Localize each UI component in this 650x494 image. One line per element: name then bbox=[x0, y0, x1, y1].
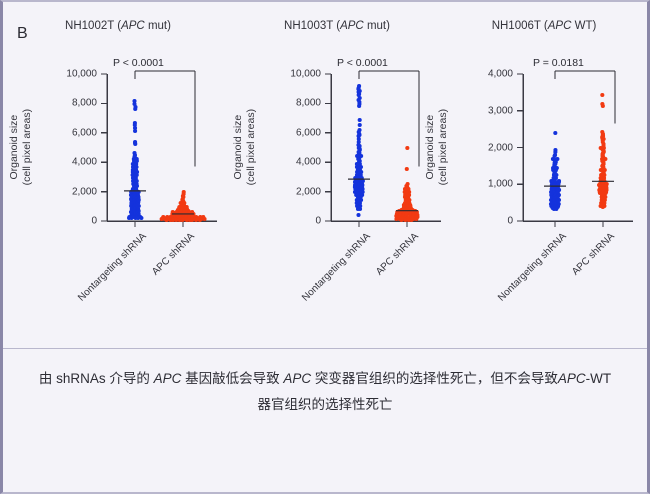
chart-panels-container: NH1002T (APC mut)Organoid size(cell pixe… bbox=[3, 2, 650, 342]
caption-text-mid: 基因敲低会导致 bbox=[181, 371, 283, 386]
data-point bbox=[405, 167, 409, 171]
data-point bbox=[553, 131, 557, 135]
data-point bbox=[399, 218, 403, 222]
caption-gene-2: APC bbox=[283, 371, 311, 386]
data-point bbox=[405, 146, 409, 150]
data-point bbox=[357, 104, 361, 108]
caption-text-pre: 由 shRNAs 介导的 bbox=[39, 371, 154, 386]
data-point bbox=[358, 118, 362, 122]
data-point bbox=[139, 216, 143, 220]
data-point bbox=[554, 207, 558, 211]
panel-nh1003t-plot bbox=[231, 2, 443, 342]
data-point bbox=[180, 218, 184, 222]
data-point bbox=[600, 93, 604, 97]
data-point bbox=[356, 213, 360, 217]
panel-nh1006t-series-apc-shrna bbox=[597, 93, 609, 209]
panel-nh1002t: NH1002T (APC mut)Organoid size(cell pixe… bbox=[3, 2, 233, 342]
panel-nh1002t-series-apc-shrna bbox=[160, 190, 207, 222]
data-point bbox=[129, 216, 133, 220]
data-point bbox=[160, 217, 164, 221]
data-point bbox=[190, 218, 194, 222]
figure-caption: 由 shRNAs 介导的 APC 基因敲低会导致 APC 突变器官组织的选择性死… bbox=[31, 366, 619, 419]
figure-root: B NH1002T (APC mut)Organoid size(cell pi… bbox=[0, 0, 650, 494]
data-point bbox=[194, 218, 198, 222]
data-point bbox=[414, 217, 418, 221]
data-point bbox=[198, 218, 202, 222]
panel-nh1002t-plot bbox=[3, 2, 233, 342]
panel-nh1003t: NH1003T (APC mut)Organoid size(cell pixe… bbox=[231, 2, 443, 342]
caption-text-post: 突变器官组织的选择性死亡，但不会导致 bbox=[311, 371, 558, 386]
panel-nh1002t-series-nontargeting bbox=[127, 99, 143, 220]
data-point bbox=[394, 217, 398, 221]
panel-nh1003t-series-nontargeting bbox=[353, 84, 365, 217]
panel-nh1006t-series-nontargeting bbox=[549, 131, 561, 211]
data-point bbox=[165, 218, 169, 222]
data-point bbox=[358, 207, 362, 211]
caption-gene-1: APC bbox=[154, 371, 182, 386]
panel-nh1006t-plot bbox=[435, 2, 650, 342]
data-point bbox=[601, 205, 605, 209]
caption-divider bbox=[3, 348, 647, 349]
caption-gene-3: APC bbox=[558, 371, 586, 386]
data-point bbox=[133, 107, 137, 111]
data-point bbox=[409, 218, 413, 222]
data-point bbox=[133, 129, 137, 133]
data-point bbox=[133, 142, 137, 146]
data-point bbox=[202, 217, 206, 221]
data-point bbox=[601, 104, 605, 108]
data-point bbox=[358, 123, 362, 127]
panel-nh1006t: NH1006T (APC WT)Organoid size(cell pixel… bbox=[435, 2, 650, 342]
